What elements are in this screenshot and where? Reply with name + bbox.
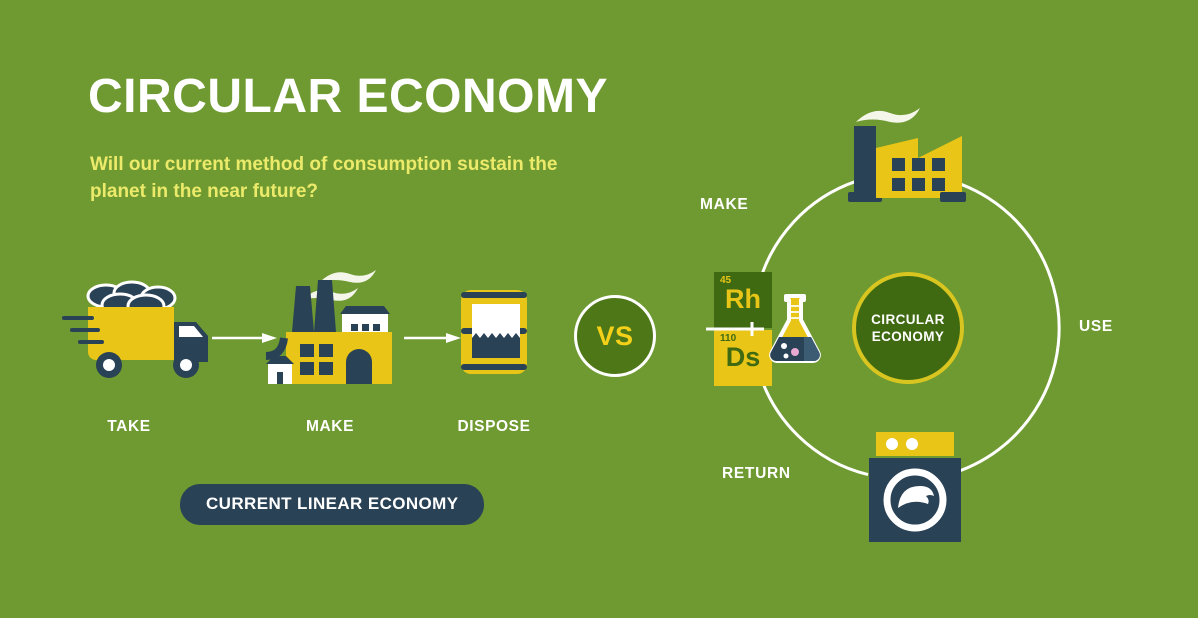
circular-make-icon-factory bbox=[840, 100, 970, 205]
step-label-make: MAKE bbox=[270, 418, 390, 436]
cycle-label-return: RETURN bbox=[722, 465, 791, 483]
cycle-label-use: USE bbox=[1079, 318, 1113, 336]
step-label-take: TAKE bbox=[69, 418, 189, 436]
center-badge-line-2: ECONOMY bbox=[872, 328, 945, 345]
ring-tick-mark bbox=[706, 320, 766, 343]
return-icon-washing-machine bbox=[866, 432, 964, 544]
take-icon-dump-truck bbox=[62, 272, 212, 390]
page-title: CIRCULAR ECONOMY bbox=[88, 72, 608, 122]
versus-label: VS bbox=[596, 321, 633, 352]
page-subtitle: Will our current method of consumption s… bbox=[90, 152, 610, 206]
cycle-label-make: MAKE bbox=[700, 196, 748, 214]
arrow-make-to-dispose bbox=[404, 331, 462, 345]
circular-economy-center-badge: CIRCULAR ECONOMY bbox=[852, 272, 964, 384]
step-label-dispose: DISPOSE bbox=[434, 418, 554, 436]
versus-badge: VS bbox=[574, 295, 656, 377]
center-badge-line-1: CIRCULAR bbox=[871, 311, 945, 328]
dispose-icon-waste-barrel bbox=[455, 286, 537, 378]
use-icon-chemistry-flask bbox=[764, 292, 826, 366]
current-linear-economy-badge: CURRENT LINEAR ECONOMY bbox=[180, 484, 484, 525]
make-icon-factory bbox=[258, 252, 408, 390]
infographic-canvas: CIRCULAR ECONOMY Will our current method… bbox=[0, 0, 1198, 618]
